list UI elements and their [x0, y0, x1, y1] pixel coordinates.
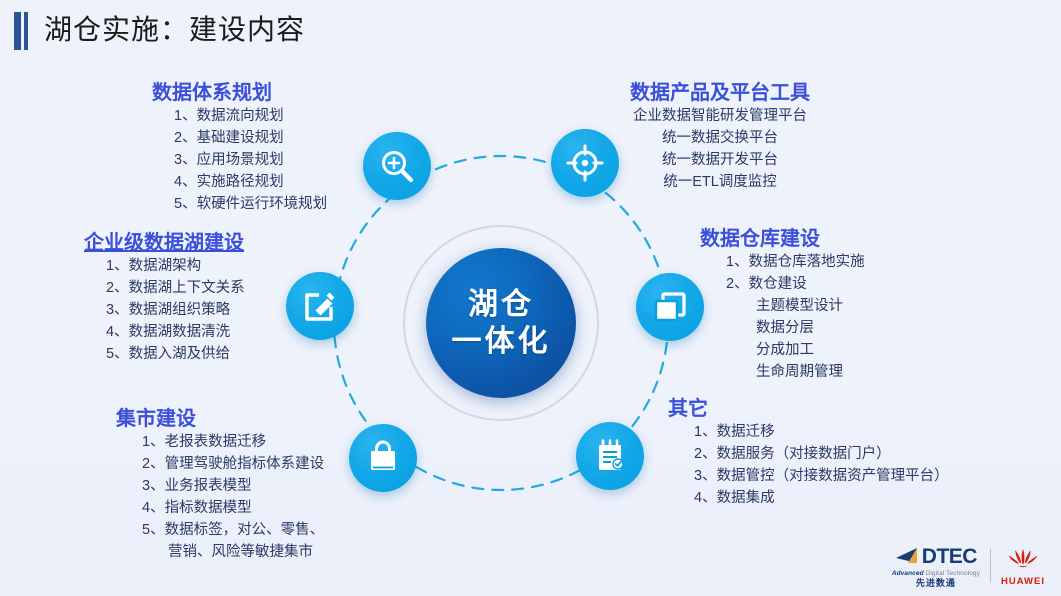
- block-enterprise-lake: 企业级数据湖建设 1、数据湖架构 2、数据湖上下文关系 3、数据湖组织策略 4、…: [84, 232, 245, 365]
- logo-divider: [990, 549, 991, 583]
- block-other-title: 其它: [668, 398, 949, 421]
- block-enterprise-lake-title: 企业级数据湖建设: [84, 232, 245, 255]
- list-item: 1、数据仓库落地实施: [726, 251, 865, 273]
- dtec-chinese-name: 先进数通: [916, 579, 956, 588]
- block-market-build-items: 1、老报表数据迁移 2、管理驾驶舱指标体系建设 3、业务报表模型 4、指标数据模…: [116, 431, 324, 563]
- list-item: 2、基础建设规划: [174, 127, 327, 149]
- node-data-system[interactable]: [363, 132, 431, 200]
- list-item-continuation: 营销、风险等敏捷集市: [142, 541, 324, 563]
- node-market-build[interactable]: [349, 424, 417, 492]
- list-item: 4、指标数据模型: [142, 497, 324, 519]
- dtec-tagline: Advanced Digital Technology: [892, 571, 980, 578]
- footer-logos: DTEC Advanced Digital Technology 先进数通: [892, 545, 1045, 589]
- target-crosshair-icon: [566, 144, 604, 182]
- list-item: 统一数据交换平台: [600, 127, 840, 149]
- list-item: 3、数据管控（对接数据资产管理平台）: [694, 465, 949, 487]
- list-subitem: 数据分层: [726, 317, 865, 339]
- list-item: 1、老报表数据迁移: [142, 431, 324, 453]
- list-item: 1、数据迁移: [694, 421, 949, 443]
- hub-circle: 湖仓 一体化: [426, 248, 576, 398]
- dtec-tagline-advanced: Advanced: [892, 570, 924, 577]
- block-market-build-title: 集市建设: [116, 408, 324, 431]
- shopping-bag-icon: [364, 439, 402, 477]
- page-title: 湖仓实施：建设内容: [44, 8, 305, 48]
- huawei-logo: HUAWEI: [1001, 547, 1045, 587]
- hub-title-line2: 一体化: [452, 323, 551, 361]
- dtec-arrow-icon: [895, 545, 921, 569]
- slide-header: 湖仓实施：建设内容: [0, 0, 1061, 62]
- list-subitem: 主题模型设计: [726, 295, 865, 317]
- slide-canvas: 湖仓实施：建设内容 湖仓 一体化: [0, 0, 1061, 596]
- list-item: 3、数据湖组织策略: [106, 299, 245, 321]
- node-data-warehouse[interactable]: [636, 273, 704, 341]
- block-data-system-title: 数据体系规划: [152, 82, 327, 105]
- block-data-products-title: 数据产品及平台工具: [600, 82, 840, 105]
- edit-pencil-icon: [301, 287, 339, 325]
- block-other: 其它 1、数据迁移 2、数据服务（对接数据门户） 3、数据管控（对接数据资产管理…: [668, 398, 949, 509]
- node-other[interactable]: [576, 422, 644, 490]
- huawei-flower-icon: [1003, 547, 1043, 575]
- dtec-logo: DTEC Advanced Digital Technology 先进数通: [892, 545, 980, 589]
- list-item: 2、数据服务（对接数据门户）: [694, 443, 949, 465]
- list-item: 2、数据湖上下文关系: [106, 277, 245, 299]
- node-enterprise-lake[interactable]: [286, 272, 354, 340]
- block-data-warehouse-title: 数据仓库建设: [700, 228, 865, 251]
- block-data-system: 数据体系规划 1、数据流向规划 2、基础建设规划 3、应用场景规划 4、实施路径…: [148, 82, 327, 215]
- list-item: 1、数据湖架构: [106, 255, 245, 277]
- list-item: 2、数仓建设: [726, 273, 865, 295]
- block-data-warehouse: 数据仓库建设 1、数据仓库落地实施 2、数仓建设 主题模型设计 数据分层 分成加…: [700, 228, 865, 383]
- huawei-wordmark: HUAWEI: [1001, 577, 1045, 587]
- block-other-items: 1、数据迁移 2、数据服务（对接数据门户） 3、数据管控（对接数据资产管理平台）…: [668, 421, 949, 509]
- header-accent-bars: [14, 12, 28, 50]
- list-item: 4、实施路径规划: [174, 171, 327, 193]
- list-item: 3、应用场景规划: [174, 149, 327, 171]
- list-subitem: 生命周期管理: [726, 361, 865, 383]
- list-item: 企业数据智能研发管理平台: [600, 105, 840, 127]
- list-item: 1、数据流向规划: [174, 105, 327, 127]
- list-item: 2、管理驾驶舱指标体系建设: [142, 453, 324, 475]
- hub-title-line1: 湖仓: [468, 286, 534, 324]
- list-subitem: 分成加工: [726, 339, 865, 361]
- block-enterprise-lake-items: 1、数据湖架构 2、数据湖上下文关系 3、数据湖组织策略 4、数据湖数据清洗 5…: [84, 255, 245, 365]
- copy-layers-icon: [651, 288, 689, 326]
- list-item: 5、数据入湖及供给: [106, 343, 245, 365]
- list-item: 统一ETL调度监控: [600, 171, 840, 193]
- notepad-check-icon: [591, 437, 629, 475]
- block-data-products-items: 企业数据智能研发管理平台 统一数据交换平台 统一数据开发平台 统一ETL调度监控: [600, 105, 840, 193]
- dtec-wordmark: DTEC: [922, 546, 977, 567]
- list-item: 5、数据标签，对公、零售、: [142, 519, 324, 541]
- block-data-products: 数据产品及平台工具 企业数据智能研发管理平台 统一数据交换平台 统一数据开发平台…: [600, 82, 840, 193]
- list-item: 4、数据集成: [694, 487, 949, 509]
- list-item: 4、数据湖数据清洗: [106, 321, 245, 343]
- block-market-build: 集市建设 1、老报表数据迁移 2、管理驾驶舱指标体系建设 3、业务报表模型 4、…: [116, 408, 324, 563]
- block-data-system-items: 1、数据流向规划 2、基础建设规划 3、应用场景规划 4、实施路径规划 5、软硬…: [148, 105, 327, 215]
- magnifier-plus-icon: [378, 147, 416, 185]
- list-item: 5、软硬件运行环境规划: [174, 193, 327, 215]
- dtec-tagline-rest: Digital Technology: [924, 570, 980, 577]
- list-item: 3、业务报表模型: [142, 475, 324, 497]
- block-data-warehouse-items: 1、数据仓库落地实施 2、数仓建设 主题模型设计 数据分层 分成加工 生命周期管…: [700, 251, 865, 383]
- list-item: 统一数据开发平台: [600, 149, 840, 171]
